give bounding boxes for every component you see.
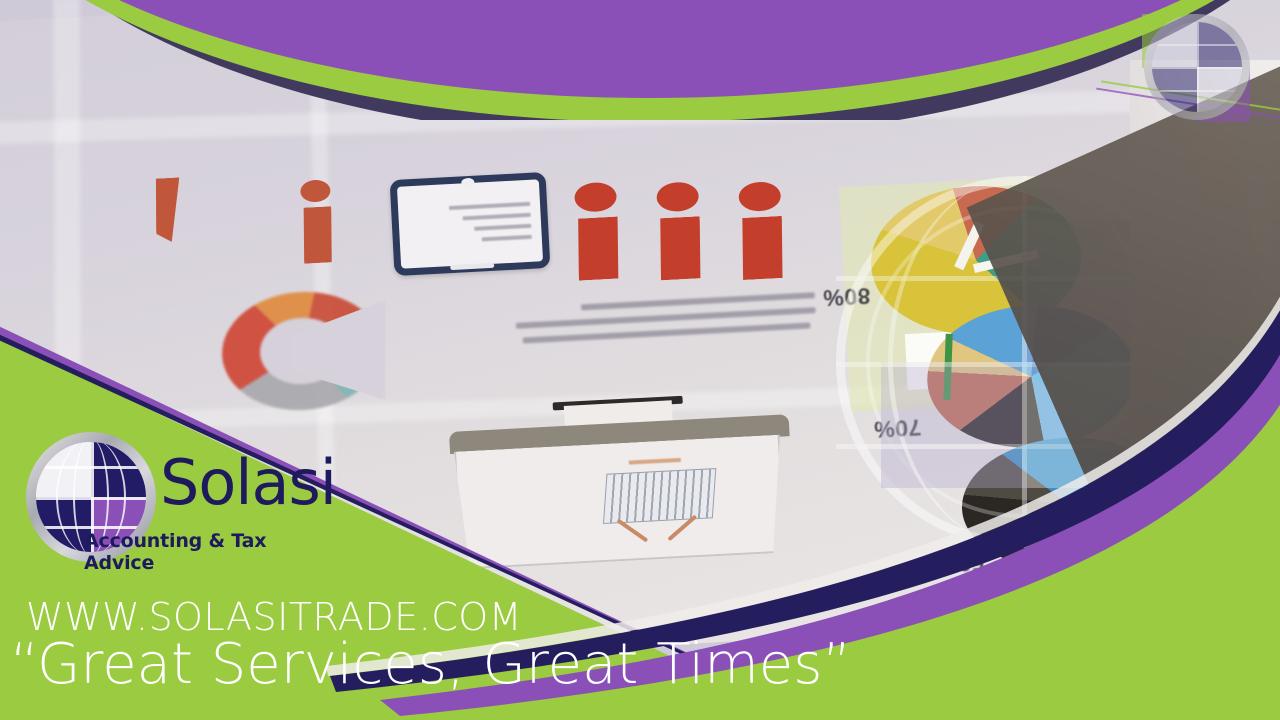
pie-chart-label-50: 50% xyxy=(936,548,985,577)
tablet-home-button xyxy=(450,263,494,270)
bar-chart-icon xyxy=(603,468,716,524)
person-pictogram-icon xyxy=(738,181,785,280)
tablet-camera xyxy=(461,178,474,188)
tablet-illustration xyxy=(390,172,551,276)
person-pictogram-icon xyxy=(656,181,703,280)
person-pictogram-icon xyxy=(574,182,621,281)
logo-tagline: Accounting & Tax Advice xyxy=(84,530,284,574)
logo-wordmark: Solasi xyxy=(160,452,336,514)
watermark-globe-body xyxy=(1152,22,1242,112)
desktop-monitor-illustration xyxy=(448,396,796,574)
company-slogan: “Great Services, Great Times” xyxy=(10,632,851,697)
promotional-banner: 80% 70% 50% xyxy=(0,0,1280,720)
person-pictogram-icon xyxy=(300,179,334,263)
globe-logo-watermark xyxy=(1138,8,1250,120)
solasi-logo: Solasi Accounting & Tax Advice xyxy=(22,424,284,584)
watermark-meridian xyxy=(1197,22,1199,112)
tablet-text-lines xyxy=(438,202,532,251)
person-pictogram-icon xyxy=(153,177,182,242)
pie-chart-label-70: 70% xyxy=(873,413,922,442)
people-pictogram-group xyxy=(557,164,812,282)
pie-chart-label-80: 80% xyxy=(822,282,871,311)
top-swoosh-band xyxy=(0,0,1280,120)
